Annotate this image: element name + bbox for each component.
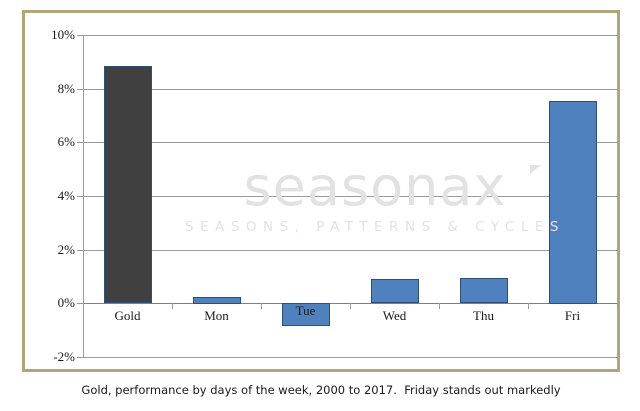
chart-frame: 10%8%6%4%2%0%-2% GoldMonTueWedThuFri sea… [22, 10, 620, 372]
gridline [83, 250, 617, 251]
y-tick-label-text: 8% [27, 82, 75, 95]
x-tick-label-thu: Thu [439, 309, 528, 323]
y-tick-mark [77, 250, 84, 251]
gridline [83, 142, 617, 143]
y-tick-label: 6% [25, 135, 75, 148]
y-tick-mark [77, 142, 84, 143]
x-tick-label-mon: Mon [172, 309, 261, 323]
watermark-tagline: SEASONS, PATTERNS & CYCLES [175, 219, 575, 235]
y-tick-label-text: 4% [27, 189, 75, 202]
gridline [83, 357, 617, 358]
x-tick-label-fri: Fri [528, 309, 617, 323]
y-tick-label: -2% [25, 350, 75, 363]
y-tick-mark [77, 357, 84, 358]
gridline [83, 89, 617, 90]
y-tick-mark [77, 89, 84, 90]
y-tick-label: 0% [25, 296, 75, 309]
x-tick-label-wed: Wed [350, 309, 439, 323]
watermark-triangle-icon [530, 165, 541, 174]
gridline [83, 35, 617, 36]
y-tick-label: 10% [25, 28, 75, 41]
y-tick-mark [77, 196, 84, 197]
y-tick-label: 2% [25, 243, 75, 256]
chart-caption: Gold, performance by days of the week, 2… [22, 383, 620, 397]
bar-thu [460, 278, 508, 303]
bar-gold [104, 66, 152, 303]
seasonax-watermark: seasonax SEASONS, PATTERNS & CYCLES [175, 159, 575, 235]
y-tick-label-text: 2% [27, 243, 75, 256]
y-tick-label-text: -2% [27, 350, 75, 363]
chart-figure: 10%8%6%4%2%0%-2% GoldMonTueWedThuFri sea… [0, 0, 640, 411]
bar-mon [193, 297, 241, 304]
y-tick-label-text: 6% [27, 135, 75, 148]
gridline [83, 196, 617, 197]
y-tick-mark [77, 35, 84, 36]
x-tick-mark [617, 303, 618, 309]
bar-fri [549, 101, 597, 304]
y-tick-label: 8% [25, 82, 75, 95]
y-tick-label-text: 10% [27, 28, 75, 41]
watermark-wordmark: seasonax [175, 159, 575, 215]
x-tick-label-gold: Gold [83, 309, 172, 323]
plot-area: 10%8%6%4%2%0%-2% GoldMonTueWedThuFri sea… [25, 13, 617, 369]
y-tick-label-text: 0% [27, 296, 75, 309]
x-tick-label-tue: Tue [261, 304, 350, 318]
y-tick-label: 4% [25, 189, 75, 202]
bar-wed [371, 279, 419, 303]
